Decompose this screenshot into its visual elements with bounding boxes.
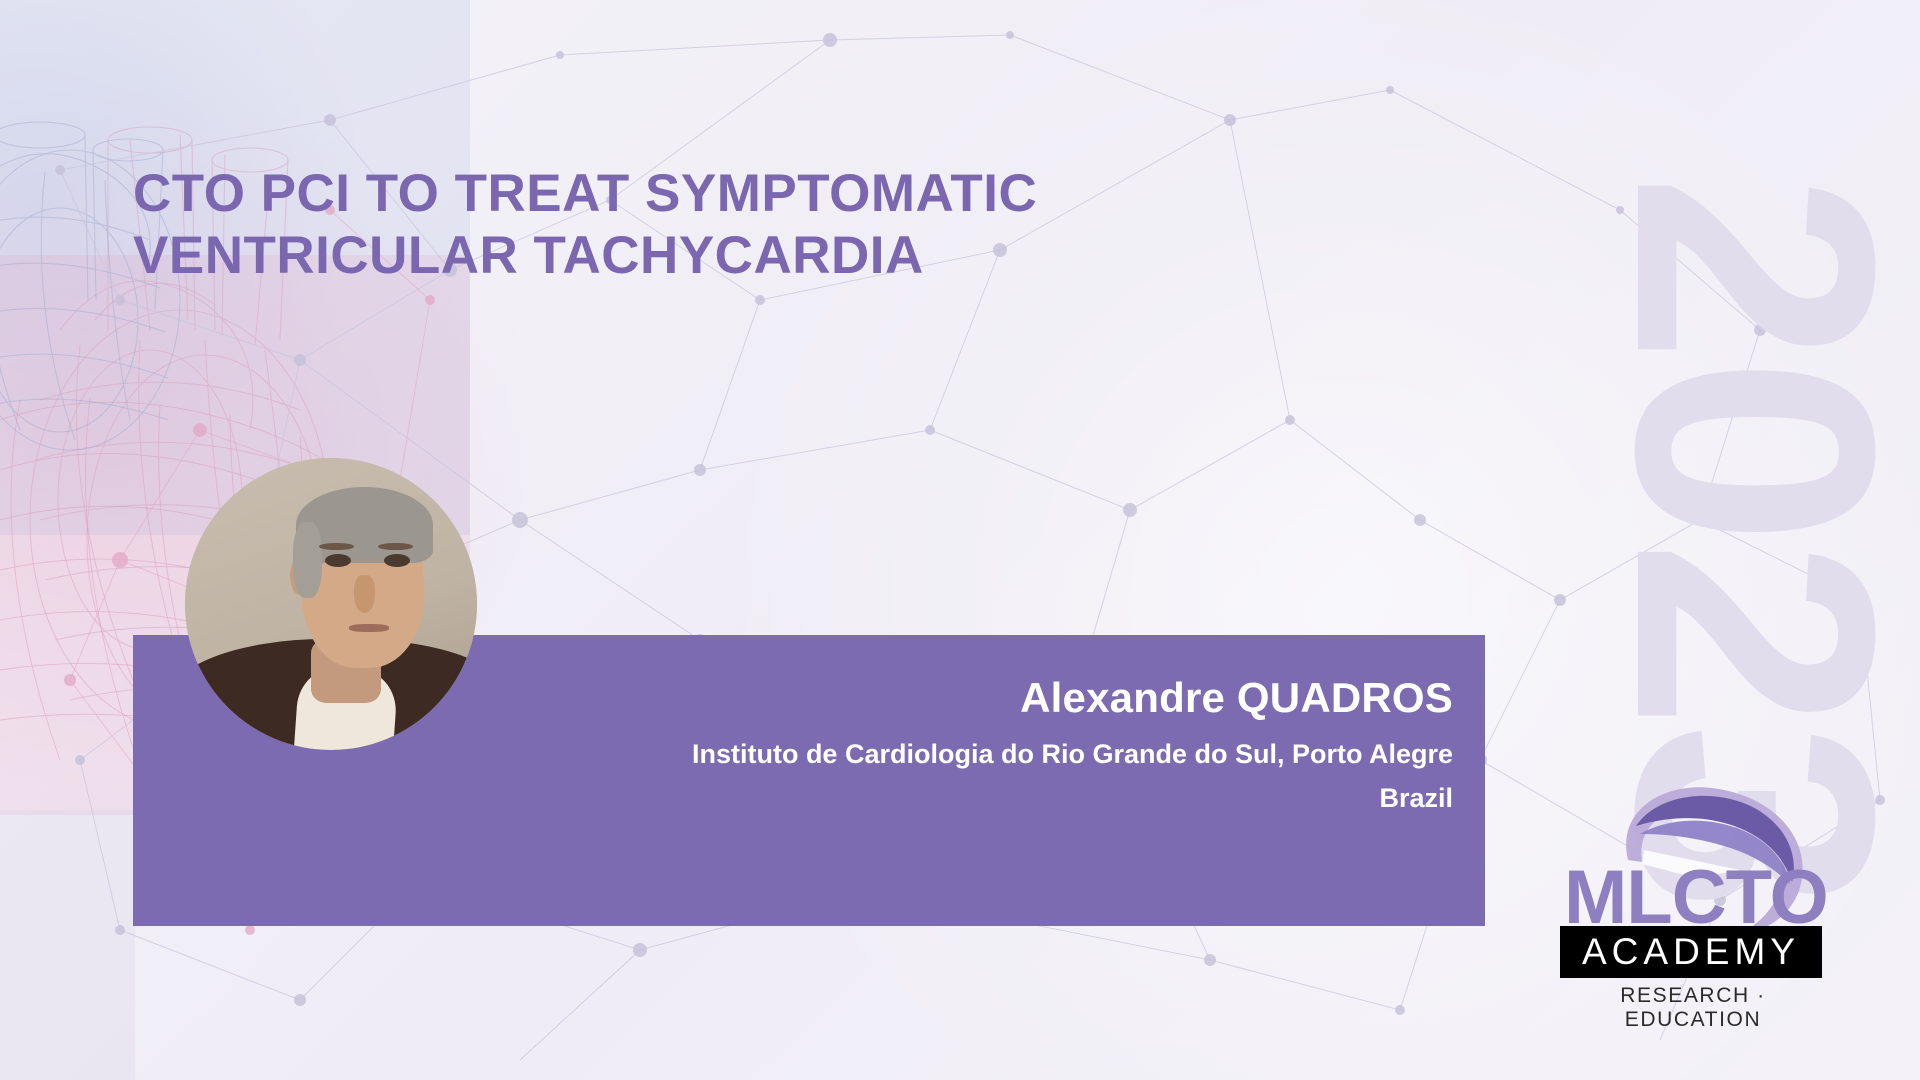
photo-mouth — [349, 624, 390, 632]
speaker-avatar — [185, 458, 477, 750]
presentation-slide: 2023 CTO PCI TO TREAT SYMPTOMATIC VENTRI… — [0, 0, 1920, 1080]
photo-brow-right — [378, 543, 413, 551]
speaker-affiliation: Instituto de Cardiologia do Rio Grande d… — [692, 735, 1453, 774]
speaker-photo — [185, 458, 477, 750]
speaker-country: Brazil — [692, 779, 1453, 818]
page-title: CTO PCI TO TREAT SYMPTOMATIC VENTRICULAR… — [133, 163, 1253, 287]
logo-wordmark: MLCTO — [1564, 860, 1828, 936]
photo-sideburn — [293, 522, 322, 598]
title-line-2: VENTRICULAR TACHYCARDIA — [133, 225, 1253, 287]
logo-academy-label: ACADEMY — [1560, 926, 1822, 978]
title-line-1: CTO PCI TO TREAT SYMPTOMATIC — [133, 163, 1253, 225]
photo-nose — [354, 575, 374, 613]
logo-tagline: RESEARCH · EDUCATION — [1558, 984, 1828, 1032]
mlcto-academy-logo: MLCTO ACADEMY RESEARCH · EDUCATION — [1556, 782, 1856, 1017]
speaker-details: Alexandre QUADROS Instituto de Cardiolog… — [692, 673, 1453, 818]
speaker-name: Alexandre QUADROS — [692, 673, 1453, 723]
